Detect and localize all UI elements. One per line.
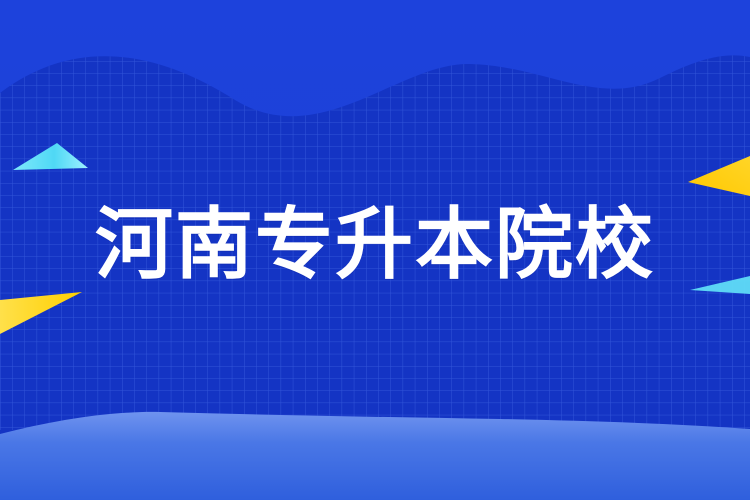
title-container: 河南专升本院校 bbox=[0, 198, 750, 290]
banner-graphic: 河南专升本院校 bbox=[0, 0, 750, 500]
wave-divider-bottom bbox=[0, 412, 750, 500]
banner-title: 河南专升本院校 bbox=[95, 198, 655, 290]
